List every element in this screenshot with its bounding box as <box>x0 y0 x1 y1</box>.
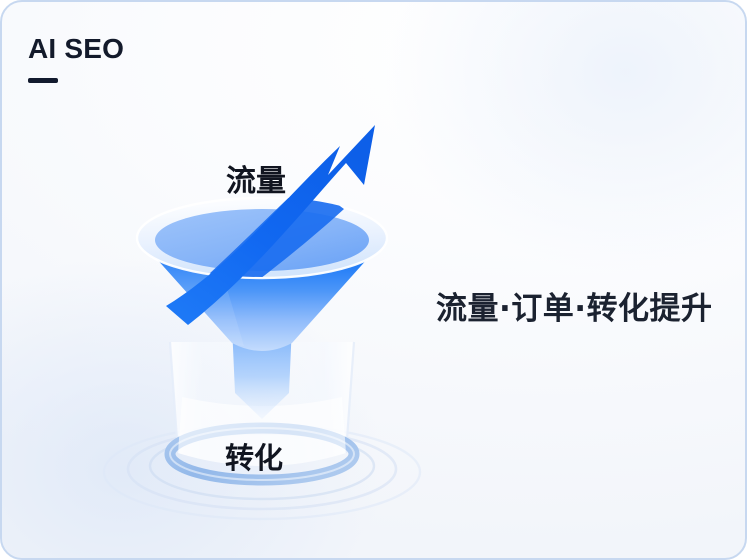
page-title: AI SEO <box>28 35 124 63</box>
headline-text: 流量·订单·转化提升 <box>436 283 713 328</box>
label-conversion: 转化 <box>225 435 283 477</box>
background-wash-top-right <box>385 0 747 272</box>
infographic-card: AI SEO 流量·订单·转化提升 <box>0 0 747 560</box>
title-underline-rule <box>28 78 58 83</box>
label-traffic: 流量 <box>226 156 286 200</box>
title-block: AI SEO <box>28 35 124 83</box>
